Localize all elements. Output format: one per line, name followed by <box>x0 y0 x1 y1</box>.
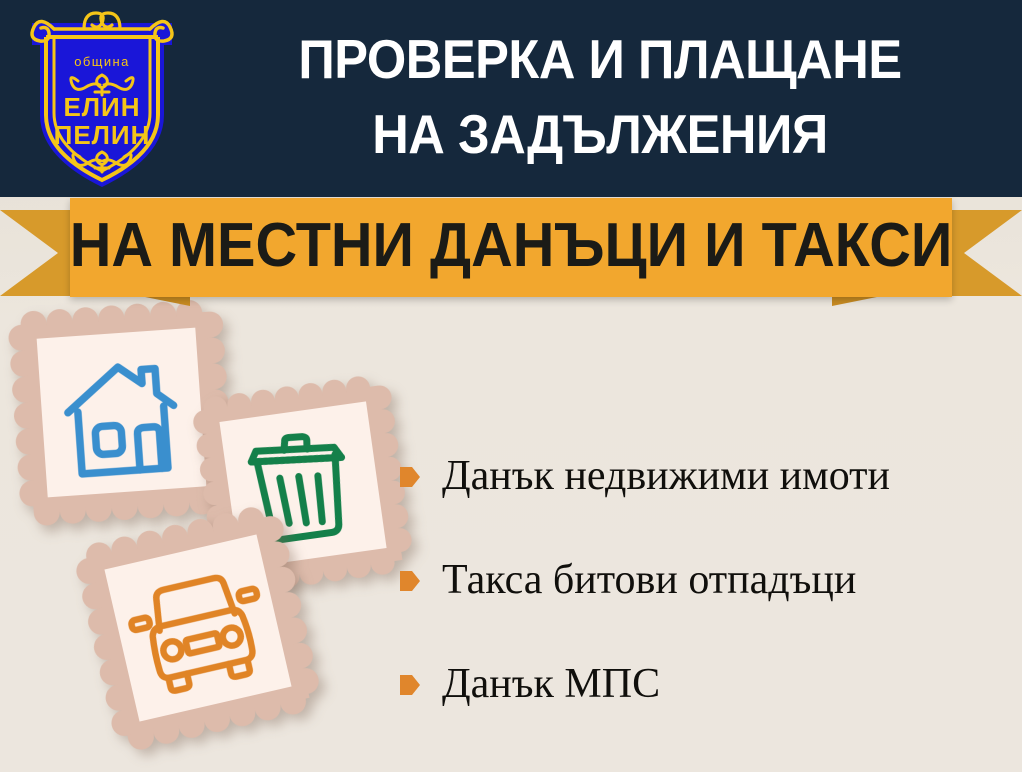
list-item-label: Данък недвижими имоти <box>442 455 890 497</box>
poster-root: община ЕЛИН ПЕЛИН <box>0 0 1022 772</box>
list-item[interactable]: Данък недвижими имоти <box>400 424 1020 528</box>
list-item-label: Данък МПС <box>442 663 660 705</box>
page-title: ПРОВЕРКА И ПЛАЩАНЕ НА ЗАДЪЛЖЕНИЯ <box>223 22 977 172</box>
logo-text-elin: ЕЛИН <box>63 92 140 122</box>
list-item[interactable]: Данък МПС <box>400 632 1020 736</box>
list-item[interactable]: Такса битови отпадъци <box>400 528 1020 632</box>
arrow-bullet-icon <box>400 673 420 697</box>
list-item-label: Такса битови отпадъци <box>442 559 856 601</box>
stamp-collage <box>0 300 420 772</box>
arrow-bullet-icon <box>400 465 420 489</box>
ribbon-label: НА МЕСТНИ ДАНЪЦИ И ТАКСИ <box>101 198 921 297</box>
header-band: община ЕЛИН ПЕЛИН <box>0 0 1022 197</box>
subtitle-ribbon: НА МЕСТНИ ДАНЪЦИ И ТАКСИ <box>0 196 1022 308</box>
ribbon-banner: НА МЕСТНИ ДАНЪЦИ И ТАКСИ <box>70 198 952 297</box>
tax-type-list: Данък недвижими имоти Такса битови отпад… <box>400 424 1020 736</box>
municipality-logo: община ЕЛИН ПЕЛИН <box>22 5 182 192</box>
logo-text-pelin: ПЕЛИН <box>54 120 151 150</box>
logo-text-obshtina: община <box>74 54 129 69</box>
arrow-bullet-icon <box>400 569 420 593</box>
